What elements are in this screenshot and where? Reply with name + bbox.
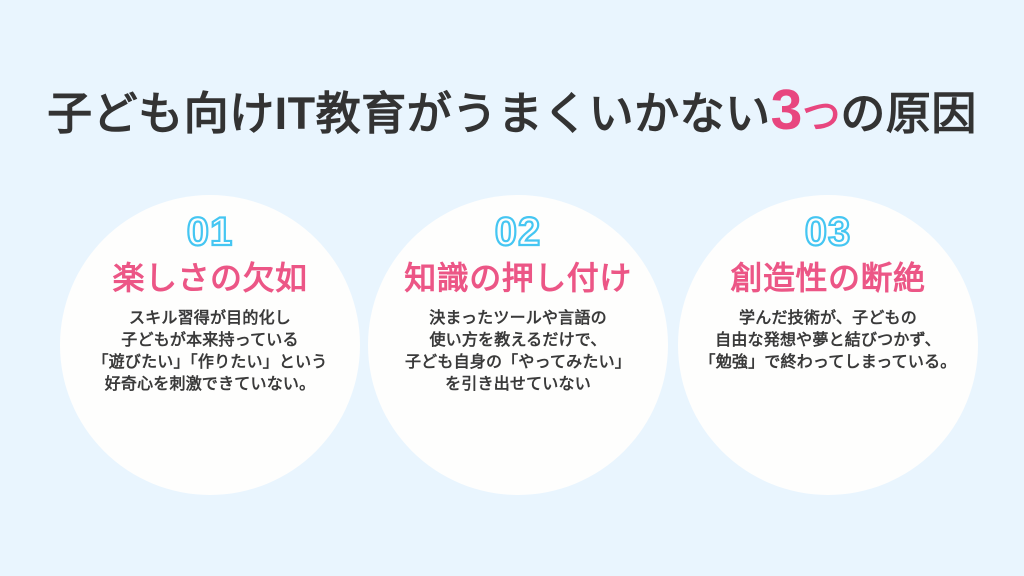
card-body-line: 「勉強」で終わってしまっている。 [638, 352, 1018, 374]
title-accent-counter: つ [802, 96, 840, 138]
reason-cards-row: 01 楽しさの欠如 スキル習得が目的化し 子どもが本来持っている 「遊びたい」「… [0, 195, 1024, 505]
reason-card-03: 03 創造性の断絶 学んだ技術が、子どもの 自由な発想や夢と結びつかず、 「勉強… [678, 195, 978, 495]
title-part-two: の原因 [840, 88, 977, 139]
reason-card-01: 01 楽しさの欠如 スキル習得が目的化し 子どもが本来持っている 「遊びたい」「… [60, 195, 360, 495]
card-body-line: 学んだ技術が、子どもの [638, 308, 1018, 330]
title-part-one: 子ども向けIT教育がうまくいかない [47, 88, 771, 139]
title-accent-number: 3 [771, 78, 803, 142]
card-body-line: 自由な発想や夢と結びつかず、 [638, 330, 1018, 352]
card-body-line: を引き出せていない [328, 374, 708, 396]
card-heading-03: 創造性の断絶 [638, 253, 1018, 298]
reason-card-02: 02 知識の押し付け 決まったツールや言語の 使い方を教えるだけで、 子ども自身… [368, 195, 668, 495]
page-title: 子ども向けIT教育がうまくいかない3つの原因 [0, 82, 1024, 139]
card-content: 03 創造性の断絶 学んだ技術が、子どもの 自由な発想や夢と結びつかず、 「勉強… [638, 195, 1018, 374]
card-number-03: 03 [638, 195, 1018, 253]
slide-canvas: 子ども向けIT教育がうまくいかない3つの原因 01 楽しさの欠如 スキル習得が目… [0, 0, 1024, 576]
card-body-03: 学んだ技術が、子どもの 自由な発想や夢と結びつかず、 「勉強」で終わってしまって… [638, 298, 1018, 374]
